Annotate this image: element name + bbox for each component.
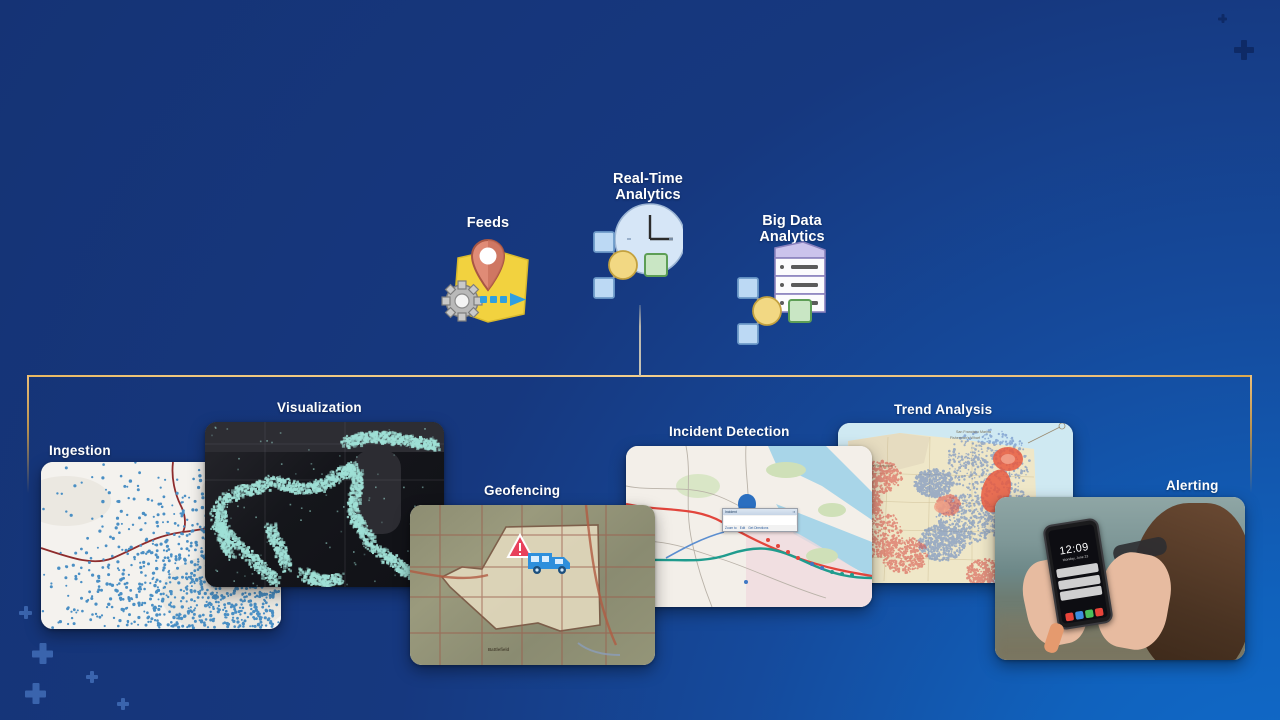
incident-detection-label-text: Incident Detection [669, 424, 790, 439]
server-network-icon [725, 238, 830, 348]
map-feed-gear-icon [440, 238, 540, 330]
visualization-label-text: Visualization [277, 400, 362, 415]
bracket-left-stem [27, 375, 29, 493]
geofencing-label-text: Geofencing [484, 483, 560, 498]
card-visualization[interactable] [205, 422, 444, 587]
alerting-label-text: Alerting [1166, 478, 1219, 493]
connector-line [639, 305, 641, 376]
card-alerting[interactable]: 12:09 Monday, June 23 [995, 497, 1245, 660]
popup-link-directions[interactable]: Get Directions [748, 526, 768, 530]
incident-detection-thumbnail: Incident ▫▪ Zoom to Edit Get Directions [626, 446, 872, 607]
close-icon[interactable]: ▫▪ [793, 510, 795, 514]
plus-mark-3 [32, 643, 53, 664]
bracket-right-stem [1250, 375, 1252, 493]
card-label-ingestion: Ingestion [49, 443, 111, 458]
card-label-geofencing: Geofencing [484, 483, 560, 498]
trend-map-label-1: Fisherman's Wharf [950, 436, 980, 440]
plus-mark-0 [1218, 14, 1227, 23]
phone-lock-screen[interactable]: 12:09 Monday, June 23 [1048, 524, 1108, 624]
trend-map-label-0: San Francisco Marina [956, 430, 991, 434]
popup-link-edit[interactable]: Edit [740, 526, 746, 530]
app-icon-green[interactable] [1085, 609, 1094, 618]
plus-mark-6 [117, 698, 129, 710]
card-geofencing[interactable]: Springfield Battlefield [410, 505, 655, 665]
card-label-incident-detection: Incident Detection [669, 424, 790, 439]
ambulance-icon [522, 541, 582, 581]
app-icon-red-2[interactable] [1095, 608, 1104, 617]
geofencing-place-label-2: Battlefield [488, 647, 510, 652]
incident-popup[interactable]: Incident ▫▪ Zoom to Edit Get Directions [722, 508, 798, 532]
incident-popup-title: Incident [725, 510, 737, 514]
trend-analysis-label-text: Trend Analysis [894, 402, 992, 417]
node-label-feeds: Feeds [418, 215, 558, 231]
feeds-label-text: Feeds [467, 215, 509, 231]
alerting-thumbnail: 12:09 Monday, June 23 [995, 497, 1245, 660]
card-label-trend-analysis: Trend Analysis [894, 402, 992, 417]
plus-mark-2 [19, 606, 32, 619]
plus-mark-4 [86, 671, 98, 683]
plus-mark-5 [25, 683, 46, 704]
card-label-visualization: Visualization [277, 400, 362, 415]
clock-network-icon [583, 192, 683, 302]
card-label-alerting: Alerting [1166, 478, 1219, 493]
visualization-thumbnail [205, 422, 444, 587]
app-icon-red[interactable] [1065, 612, 1074, 621]
card-incident-detection[interactable]: Incident ▫▪ Zoom to Edit Get Directions [626, 446, 872, 607]
popup-link-zoom-to[interactable]: Zoom to [725, 526, 737, 530]
ingestion-label-text: Ingestion [49, 443, 111, 458]
plus-mark-1 [1234, 40, 1254, 60]
app-icon-blue[interactable] [1075, 611, 1084, 620]
phone-dock [1061, 607, 1108, 622]
geofencing-thumbnail: Springfield Battlefield [410, 505, 655, 665]
